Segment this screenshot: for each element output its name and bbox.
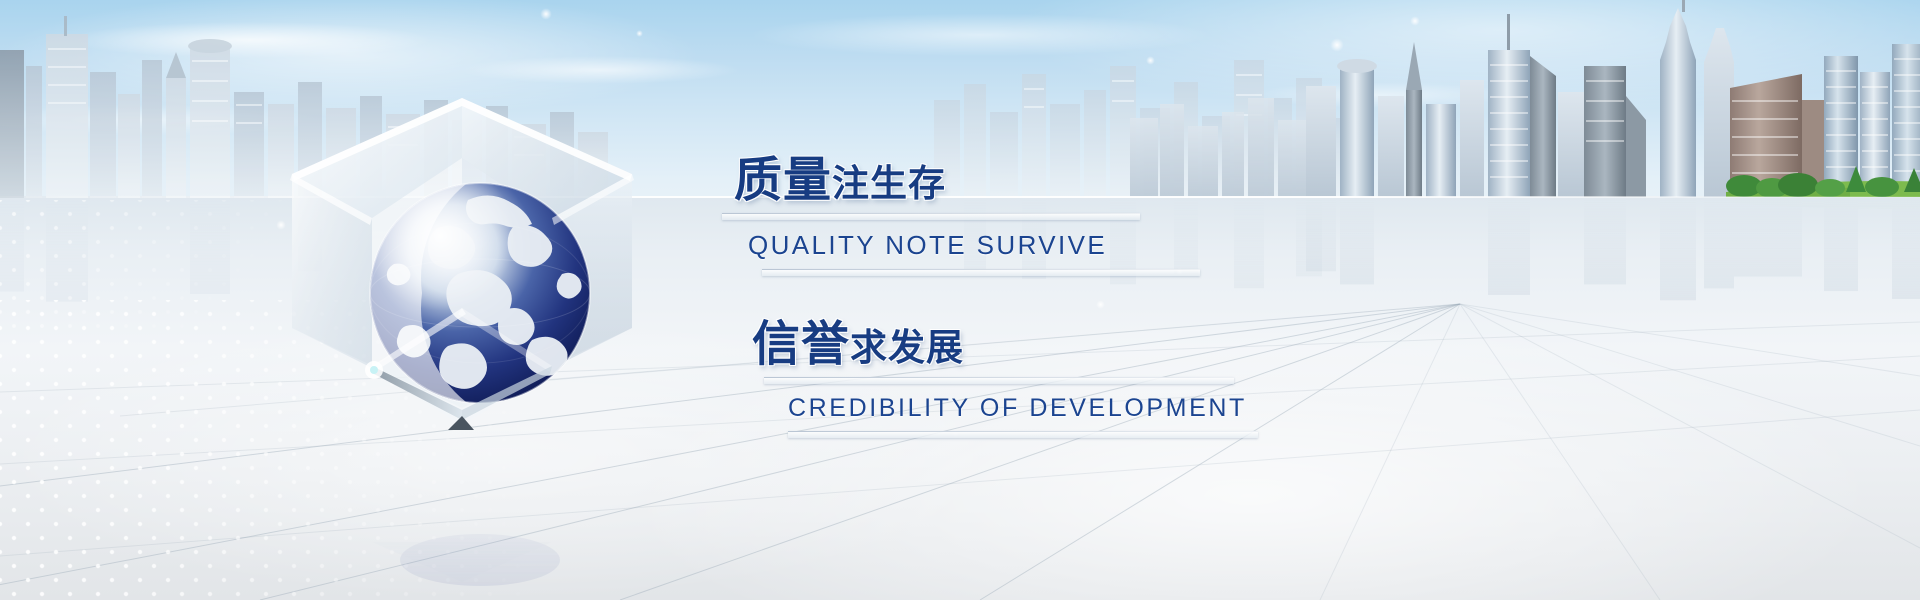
sparkle-icon <box>540 8 552 20</box>
slogan-block-1: 质量注生存 QUALITY NOTE SURVIVE <box>722 156 1422 276</box>
headline-1: 质量注生存 <box>734 156 1422 204</box>
glass-cube-with-globe <box>262 78 662 458</box>
headline-1-bold: 质量 <box>734 152 832 208</box>
sparkle-icon <box>276 220 286 230</box>
sparkle-icon <box>1330 38 1344 52</box>
divider-1-lower <box>762 269 1200 276</box>
headline-1-rest: 注生存 <box>832 162 946 205</box>
sparkle-icon <box>1410 16 1420 26</box>
headline-2-bold: 信誉 <box>752 316 850 372</box>
sparkle-icon <box>636 30 643 37</box>
hero-banner: 质量注生存 QUALITY NOTE SURVIVE 信誉求发展 CREDIBI… <box>0 0 1920 600</box>
slogan-copy: 质量注生存 QUALITY NOTE SURVIVE 信誉求发展 CREDIBI… <box>722 156 1422 438</box>
headline-2-rest: 求发展 <box>850 326 964 369</box>
divider-2-lower <box>788 431 1258 438</box>
subtitle-2: CREDIBILITY OF DEVELOPMENT <box>788 394 1422 423</box>
slogan-block-2: 信誉求发展 CREDIBILITY OF DEVELOPMENT <box>722 320 1422 438</box>
divider-1 <box>722 213 1140 220</box>
headline-2: 信誉求发展 <box>752 320 1422 368</box>
divider-2 <box>764 377 1234 384</box>
centerpiece-reflection <box>262 440 662 590</box>
subtitle-1: QUALITY NOTE SURVIVE <box>748 230 1422 261</box>
sparkle-icon <box>1146 56 1155 65</box>
